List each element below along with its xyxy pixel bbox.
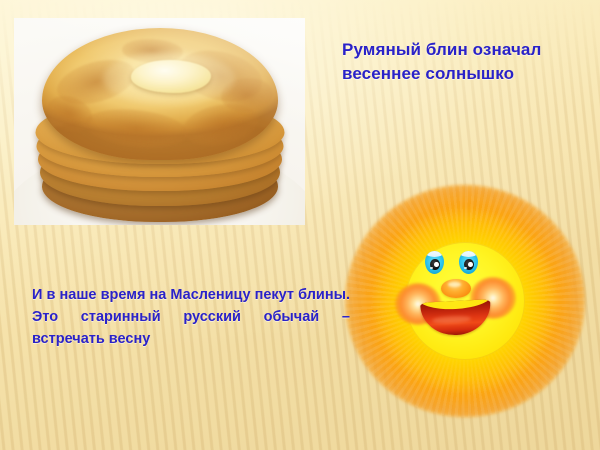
pancake-stack-photo [14,18,305,225]
butter-pat [131,60,211,93]
pancake-layer-top [42,28,278,160]
pancake-edge-shadow [42,115,278,160]
pancake-stack [34,26,286,222]
slide-heading: Румяный блин означал весеннее солнышко [342,38,580,86]
slide-paragraph: И в наше время на Масленицу пекут блины.… [32,284,350,350]
slide-canvas: Румяный блин означал весеннее солнышко И… [0,0,600,450]
